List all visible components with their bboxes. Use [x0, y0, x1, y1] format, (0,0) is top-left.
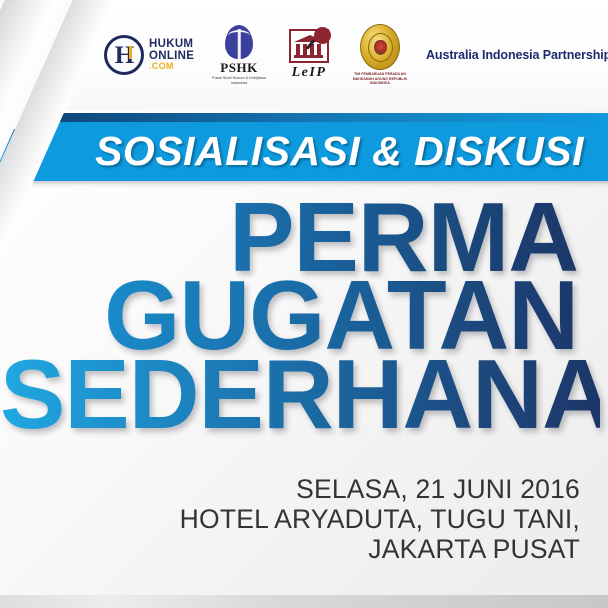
leip-logo: LeIP — [278, 29, 340, 81]
seal-emblem-icon — [374, 40, 387, 55]
title-line-sederhana: SEDERHANA — [0, 353, 600, 435]
seal-outer-ring-icon — [360, 24, 400, 70]
bottom-gray-strip — [0, 595, 608, 608]
partner-logo-row: H HUKUM ONLINE .COM PSHK Pusat Studi Huk… — [104, 24, 608, 86]
magnifier-icon — [314, 27, 331, 44]
hukumonline-word-hukum: HUKUM — [149, 39, 194, 51]
event-details: SELASA, 21 JUNI 2016 HOTEL ARYADUTA, TUG… — [180, 474, 580, 565]
seal-subtitle: TIM PEMBARUAN PERADILAN MAHKAMAH AGUNG R… — [347, 72, 413, 86]
event-venue: HOTEL ARYADUTA, TUGU TANI, — [180, 504, 580, 534]
event-poster: H HUKUM ONLINE .COM PSHK Pusat Studi Huk… — [0, 0, 608, 608]
pshk-acronym: PSHK — [220, 60, 257, 76]
leip-acronym: LeIP — [292, 65, 327, 81]
poster-title-block: PERMA GUGATAN SEDERHANA — [0, 196, 600, 435]
event-date: SELASA, 21 JUNI 2016 — [180, 474, 580, 504]
pshk-subtitle: Pusat Studi Hukum & Kebijakan Indonesia — [211, 76, 267, 86]
pshk-shield-icon — [225, 25, 253, 59]
event-city: JAKARTA PUSAT — [180, 534, 580, 564]
pshk-logo: PSHK Pusat Studi Hukum & Kebijakan Indon… — [208, 25, 270, 86]
leip-courthouse-icon — [289, 29, 329, 63]
aipj-wordmark: Australia Indonesia Partnership for Just — [426, 48, 608, 62]
mahkamah-agung-seal: TIM PEMBARUAN PERADILAN MAHKAMAH AGUNG R… — [346, 24, 414, 86]
seal-inner-ring-icon — [368, 33, 393, 62]
leip-base-shape — [294, 55, 323, 58]
